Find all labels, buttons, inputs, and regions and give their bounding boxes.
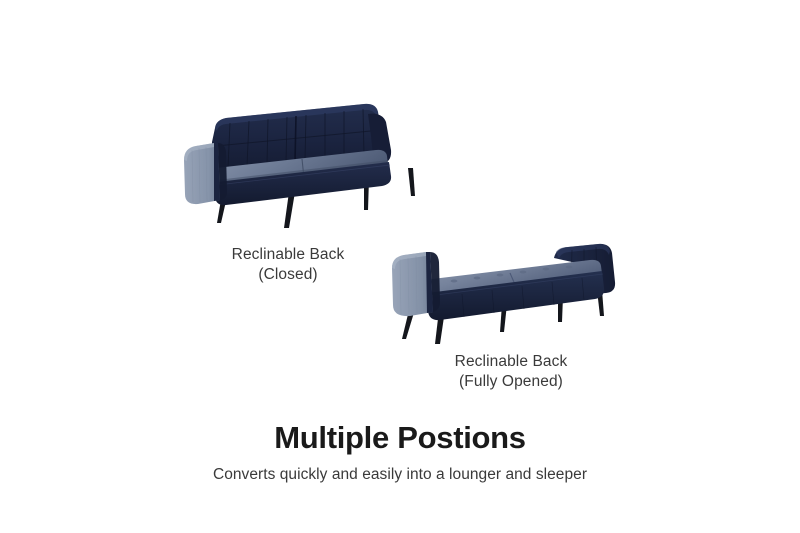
product-feature-graphic: Reclinable Back (Closed) — [0, 0, 800, 533]
headline-block: Multiple Postions Converts quickly and e… — [0, 420, 800, 486]
caption-reclinable-back-closed: Reclinable Back (Closed) — [178, 245, 398, 285]
sofa-closed-illustration — [168, 92, 424, 232]
sofa-opened-illustration — [382, 238, 638, 348]
headline: Multiple Postions — [0, 420, 800, 456]
subheadline: Converts quickly and easily into a loung… — [0, 464, 800, 486]
caption-reclinable-back-fully-opened: Reclinable Back (Fully Opened) — [396, 352, 626, 392]
